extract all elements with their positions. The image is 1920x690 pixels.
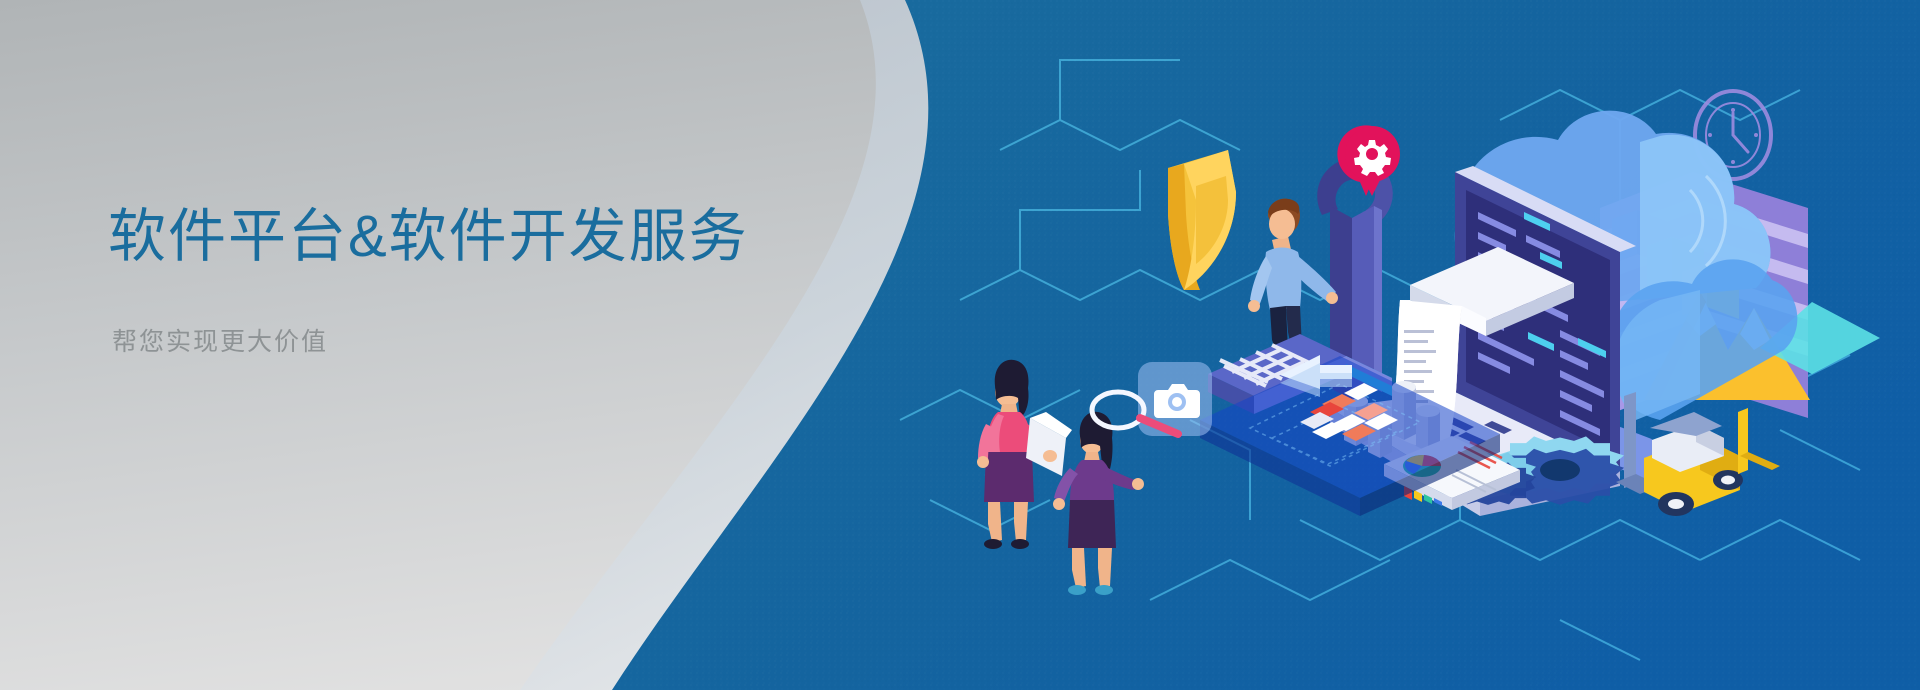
page-subtitle: 帮您实现更大价值 [112, 322, 749, 358]
hero-banner: 软件平台&软件开发服务 帮您实现更大价值 [0, 0, 1920, 690]
page-title: 软件平台&软件开发服务 [108, 205, 749, 270]
hero-text-block: 软件平台&软件开发服务 帮您实现更大价值 [108, 205, 749, 358]
